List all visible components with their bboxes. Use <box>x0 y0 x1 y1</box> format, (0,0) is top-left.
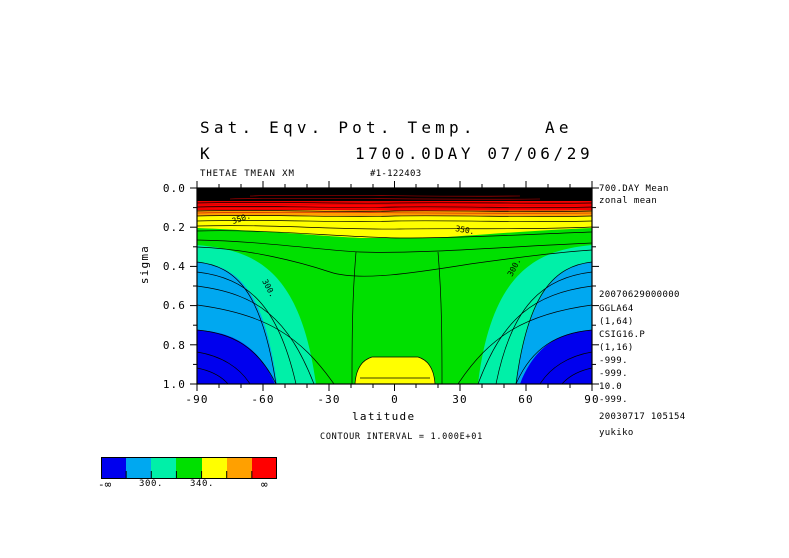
contour-interval-caption: CONTOUR INTERVAL = 1.000E+01 <box>320 432 483 442</box>
colorbar-min-label: -∞ <box>98 478 111 491</box>
y-tick-label-0: 0.0 <box>144 182 186 195</box>
x-tick-label-2: -30 <box>309 393 349 406</box>
meta-line-2: (1,64) <box>599 317 634 327</box>
x-axis-label: latitude <box>352 410 415 423</box>
meta-line-0: 20070629000000 <box>599 290 680 300</box>
y-tick-label-2: 0.4 <box>144 260 186 273</box>
band-surface-warm-pool <box>355 357 435 384</box>
meta-line-5: -999. <box>599 356 628 366</box>
x-tick-label-5: 60 <box>509 393 543 406</box>
x-tick-label-0: -90 <box>177 393 217 406</box>
side-note-zonal: zonal mean <box>599 196 657 206</box>
meta-line-6: -999. <box>599 369 628 379</box>
y-tick-label-4: 0.8 <box>144 339 186 352</box>
x-tick-label-4: 30 <box>443 393 477 406</box>
meta-line-4: (1,16) <box>599 343 634 353</box>
meta-line-8: -999. <box>599 395 628 405</box>
meta-line-7: 10.0 <box>599 382 622 392</box>
x-tick-label-3: 0 <box>378 393 412 406</box>
colorbar-tick-label-1: 340. <box>182 479 222 489</box>
meta-line-9: 20030717 105154 <box>599 412 686 422</box>
y-tick-label-1: 0.2 <box>144 221 186 234</box>
colorbar-tick-label-0: 300. <box>131 479 171 489</box>
colorbar-max-label: ∞ <box>261 478 268 491</box>
side-note-mean: 700.DAY Mean <box>599 184 669 194</box>
y-tick-label-5: 1.0 <box>144 378 186 391</box>
figure-canvas: Sat. Eqv. Pot. Temp. Ae K 1700.0DAY 07/0… <box>0 0 789 558</box>
meta-line-1: GGLA64 <box>599 304 634 314</box>
meta-line-3: CSIG16.P <box>599 330 645 340</box>
colorbar <box>101 457 277 479</box>
y-tick-label-3: 0.6 <box>144 299 186 312</box>
contour-fill-group <box>197 188 592 384</box>
meta-line-10: yukiko <box>599 428 634 438</box>
colorbar-frame <box>101 457 277 479</box>
x-tick-label-1: -60 <box>243 393 283 406</box>
